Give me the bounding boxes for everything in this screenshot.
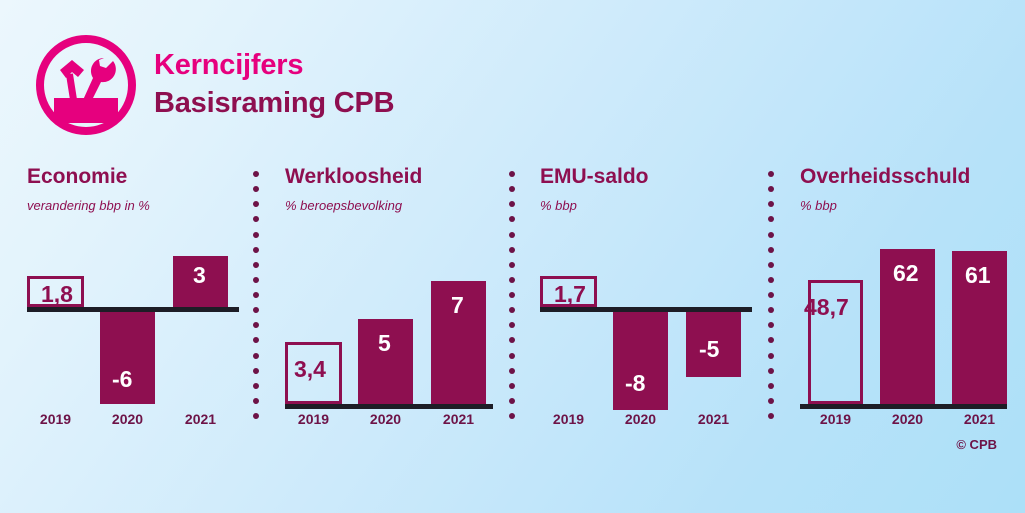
divider-dot — [253, 307, 259, 313]
divider-dot — [253, 383, 259, 389]
chart-subtitle-werkloosheid: % beroepsbevolking — [285, 198, 493, 213]
year-label-economie-2020: 2020 — [100, 412, 155, 426]
bar-value-overheidsschuld-2021: 61 — [965, 264, 991, 287]
year-axis-overheidsschuld: 2019 2020 2021 — [800, 412, 1007, 432]
divider-dot — [509, 232, 515, 238]
year-label-economie-2019: 2019 — [27, 412, 84, 426]
divider-dot — [509, 398, 515, 404]
chart-plot-overheidsschuld: 48,7 62 61 — [800, 220, 998, 405]
chart-panel-emu-saldo: EMU-saldo % bbp 1,7 -8 -5 2019 2020 2021 — [540, 166, 752, 436]
divider-dot — [509, 216, 515, 222]
divider-dot — [253, 398, 259, 404]
year-label-werkloosheid-2020: 2020 — [358, 412, 413, 426]
header: Kerncijfers Basisraming CPB — [32, 30, 394, 138]
divider-dot — [768, 368, 774, 374]
divider-dot — [253, 368, 259, 374]
panel-divider-2 — [508, 171, 515, 419]
panel-divider-3 — [767, 171, 774, 419]
header-titles: Kerncijfers Basisraming CPB — [154, 48, 394, 120]
divider-dot — [768, 247, 774, 253]
divider-dot — [253, 186, 259, 192]
chart-title-overheidsschuld: Overheidsschuld — [800, 166, 998, 187]
bar-value-emu-saldo-2020: -8 — [625, 372, 645, 395]
year-label-emu-saldo-2020: 2020 — [613, 412, 668, 426]
year-axis-emu-saldo: 2019 2020 2021 — [540, 412, 752, 432]
year-label-werkloosheid-2021: 2021 — [431, 412, 486, 426]
divider-dot — [509, 277, 515, 283]
chart-baseline-overheidsschuld — [800, 404, 1007, 409]
divider-dot — [768, 292, 774, 298]
divider-dot — [768, 398, 774, 404]
divider-dot — [509, 383, 515, 389]
divider-dot — [768, 277, 774, 283]
divider-dot — [768, 232, 774, 238]
page-subtitle: Basisraming CPB — [154, 86, 394, 120]
bar-value-overheidsschuld-2020: 62 — [893, 262, 919, 285]
chart-subtitle-overheidsschuld: % bbp — [800, 198, 998, 213]
year-axis-werkloosheid: 2019 2020 2021 — [285, 412, 493, 432]
bar-value-werkloosheid-2021: 7 — [451, 294, 464, 317]
divider-dot — [768, 262, 774, 268]
divider-dot — [253, 171, 259, 177]
charts-container: Economie verandering bbp in % 1,8 3 -6 2… — [0, 166, 1025, 436]
chart-panel-economie: Economie verandering bbp in % 1,8 3 -6 2… — [27, 166, 239, 436]
divider-dot — [509, 292, 515, 298]
divider-dot — [253, 262, 259, 268]
divider-dot — [768, 413, 774, 419]
divider-dot — [509, 247, 515, 253]
divider-dot — [768, 383, 774, 389]
divider-dot — [509, 322, 515, 328]
bar-value-emu-saldo-2019: 1,7 — [554, 283, 586, 306]
bar-value-economie-2020: -6 — [112, 368, 132, 391]
divider-dot — [509, 307, 515, 313]
year-label-overheidsschuld-2021: 2021 — [952, 412, 1007, 426]
year-label-emu-saldo-2019: 2019 — [540, 412, 597, 426]
divider-dot — [768, 171, 774, 177]
divider-dot — [768, 216, 774, 222]
divider-dot — [509, 353, 515, 359]
divider-dot — [768, 322, 774, 328]
bar-value-emu-saldo-2021: -5 — [699, 338, 719, 361]
chart-plot-economie: 1,8 3 -6 — [27, 220, 239, 405]
divider-dot — [253, 232, 259, 238]
chart-plot-emu-saldo: 1,7 -8 -5 — [540, 220, 752, 405]
chart-title-werkloosheid: Werkloosheid — [285, 166, 493, 187]
chart-subtitle-emu-saldo: % bbp — [540, 198, 752, 213]
chart-panel-werkloosheid: Werkloosheid % beroepsbevolking 3,4 5 7 … — [285, 166, 493, 436]
divider-dot — [509, 262, 515, 268]
divider-dot — [253, 337, 259, 343]
chart-title-economie: Economie — [27, 166, 239, 187]
year-label-economie-2021: 2021 — [173, 412, 228, 426]
divider-dot — [768, 337, 774, 343]
year-label-emu-saldo-2021: 2021 — [686, 412, 741, 426]
divider-dot — [253, 322, 259, 328]
divider-dot — [768, 307, 774, 313]
divider-dot — [509, 171, 515, 177]
divider-dot — [768, 186, 774, 192]
year-label-werkloosheid-2019: 2019 — [285, 412, 342, 426]
divider-dot — [768, 201, 774, 207]
year-label-overheidsschuld-2020: 2020 — [880, 412, 935, 426]
bar-value-werkloosheid-2019: 3,4 — [294, 358, 326, 381]
chart-plot-werkloosheid: 3,4 5 7 — [285, 220, 493, 405]
divider-dot — [768, 353, 774, 359]
divider-dot — [253, 216, 259, 222]
divider-dot — [509, 337, 515, 343]
year-axis-economie: 2019 2020 2021 — [27, 412, 239, 432]
divider-dot — [509, 413, 515, 419]
bar-value-werkloosheid-2020: 5 — [378, 332, 391, 355]
infographic-canvas: Kerncijfers Basisraming CPB Economie ver… — [0, 0, 1025, 513]
bar-value-economie-2021: 3 — [193, 264, 206, 287]
bar-value-overheidsschuld-2019: 48,7 — [804, 296, 849, 319]
divider-dot — [509, 186, 515, 192]
chart-baseline-werkloosheid — [285, 404, 493, 409]
chart-panel-overheidsschuld: Overheidsschuld % bbp 48,7 62 61 2019 20… — [800, 166, 998, 436]
divider-dot — [253, 413, 259, 419]
divider-dot — [253, 277, 259, 283]
chart-title-emu-saldo: EMU-saldo — [540, 166, 752, 187]
page-title: Kerncijfers — [154, 48, 394, 82]
divider-dot — [509, 368, 515, 374]
year-label-overheidsschuld-2019: 2019 — [808, 412, 863, 426]
copyright-notice: © CPB — [956, 437, 997, 452]
divider-dot — [253, 201, 259, 207]
divider-dot — [253, 247, 259, 253]
divider-dot — [509, 201, 515, 207]
divider-dot — [253, 292, 259, 298]
panel-divider-1 — [252, 171, 259, 419]
chart-subtitle-economie: verandering bbp in % — [27, 198, 239, 213]
toolbox-tools-icon — [32, 30, 140, 138]
divider-dot — [253, 353, 259, 359]
bar-value-economie-2019: 1,8 — [41, 283, 73, 306]
